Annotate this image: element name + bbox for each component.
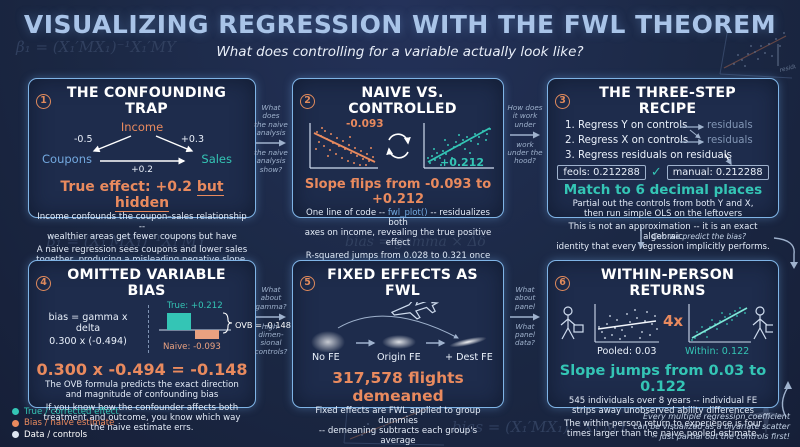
fe-label-origin-fe: Origin FE [377,352,421,363]
within-person-pooled-label: Pooled: 0.03 [597,346,656,357]
wrap-arrow-top-icon [772,236,800,270]
dag-arrows [36,120,250,176]
ovb-illustration: bias = gamma x delta 0.300 x (-0.494) Tr… [36,302,248,356]
arrow-right-icon [256,139,286,147]
infographic-poster: β₁ = (X₁′MX₁)⁻¹X₁′MY β₁ = (X₁′MX₁)⁻¹X₁′M… [0,0,800,447]
residual-sketch-label: residuals [779,61,796,74]
legend-item: True / corrected effect [12,407,119,417]
recipe-step-2-result: residuals [707,135,753,146]
within-person-within-label: Within: 0.122 [685,346,749,357]
legend-label: Data / controls [24,430,87,440]
connector-4-to-5: What about gamma? high- dimen- sional co… [252,286,290,356]
ovb-bar-naive-label: Naive: -0.093 [163,342,221,352]
panel-header: 4 OMITTED VARIABLE BIAS [36,267,248,299]
check-icon: ✓ [651,165,662,180]
connector-3-bottom-d: controls? [252,348,290,356]
legend-dot-true-icon [12,408,19,415]
panel-three-step-recipe: 3 THE THREE-STEP RECIPE 1. Regress Y on … [547,78,779,218]
panel4-headline: 0.300 x -0.494 = -0.148 [36,360,248,379]
page-subtitle: What does controlling for a variable act… [0,44,800,60]
legend-dot-bias-icon [12,420,19,427]
footnote-line1: Every multiple regression coefficient [633,412,790,422]
footnote-line2: can be visualized as a bivariate scatter [633,422,790,432]
chip-feols: feols: 0.212288 [557,165,645,180]
panel-title: FIXED EFFECTS AS FWL [321,267,496,299]
connector-1-bottom-c: show? [252,166,290,174]
connector-2-top-c: under [506,121,544,129]
arrow-right-icon [510,131,540,139]
panel-header: 6 WITHIN-PERSON RETURNS [555,267,771,299]
panel2-body-line2: axes on income, revealing the true posit… [300,229,496,249]
panel-title: THE CONFOUNDING TRAP [57,85,248,117]
arrow-right-icon [256,313,286,321]
panel5-body-line2: -- demeaning subtracts each group's aver… [300,427,496,447]
recipe-steps: 1. Regress Y on controls residuals 2. Re… [555,120,771,166]
panel1-headline: True effect: +0.2 but hidden [36,179,248,211]
within-person-multiplier: 4x [663,312,683,330]
ovb-barchart: True: +0.212 OVB = -0.148 Naive: -0.093 [157,302,248,356]
legend-label: True / corrected effect [24,407,119,417]
panel1-headline-prefix: True effect: +0.2 [60,179,196,195]
panel3-body-line2: then run simple OLS on the leftovers [555,210,771,220]
within-person-plots: 4x Pooled: 0.03 Within: 0.122 [555,302,771,360]
chip-manual: manual: 0.212288 [667,165,769,180]
panel2-body-code: fwl_plot() [388,208,428,218]
panel5-body-line1: Fixed effects are FWL applied to group d… [300,407,496,427]
footnote-line3: -- just partial out the controls first! [633,432,790,442]
confounding-dag: Income Coupons Sales -0.5 +0.3 +0.2 [36,120,248,176]
panel2-left-plot-value: -0.093 [346,118,384,130]
fe-label-dest-fe: + Dest FE [445,352,493,363]
panel-within-person-returns: 6 WITHIN-PERSON RETURNS [547,260,779,408]
ovb-formula-line2: 0.300 x (-0.494) [36,336,140,347]
panel1-body-line2: wealthier areas get fewer coupons but ha… [36,233,248,243]
fe-scatter-clouds [300,302,498,352]
legend-item: Bias / naive estimate [12,418,119,428]
legend-label: Bias / naive estimate [24,418,114,428]
legend: True / corrected effect Bias / naive est… [12,407,119,442]
connector-1-top-a: What does [252,104,290,121]
panel3-body2-line2: identity that every regression implicitl… [555,243,771,253]
page-title: VISUALIZING REGRESSION WITH THE FWL THEO… [0,10,800,39]
connector-2-bottom-c: hood? [506,157,544,165]
panel1-body-line1: Income confounds the coupon–sales relati… [36,213,248,233]
panel-header: 5 FIXED EFFECTS AS FWL [300,267,496,299]
connector-3-top-c: gamma? [252,303,290,311]
panel6-headline: Slope jumps from 0.03 to 0.122 [555,363,771,395]
recipe-step-1: 1. Regress Y on controls [565,120,687,131]
panel-header: 1 THE CONFOUNDING TRAP [36,85,248,117]
panel-number-badge: 5 [300,276,315,291]
fe-scatter-sequence: No FE Origin FE + Dest FE [300,302,496,364]
panel4-body-line2: and magnitude of confounding bias [36,391,248,401]
footnote: Every multiple regression coefficient ca… [633,412,790,442]
arrow-down-icon [634,226,648,250]
connector-1-top-c: analysis [252,129,290,137]
panel2-right-plot-value: +0.212 [440,156,484,169]
fe-label-no-fe: No FE [312,352,340,363]
panel-omitted-variable-bias: 4 OMITTED VARIABLE BIAS bias = gamma x d… [28,260,256,408]
recipe-step-2: 2. Regress X on controls [565,135,688,146]
recipe-step-1-result: residuals [707,120,753,131]
recipe-step-3: 3. Regress residuals on residuals [565,150,732,161]
panel2-body-pre: One line of code -- [306,208,388,218]
panel-header: 3 THE THREE-STEP RECIPE [555,85,771,117]
panel-title: OMITTED VARIABLE BIAS [57,267,248,299]
panel-title: THE THREE-STEP RECIPE [576,85,771,117]
panel2-headline: Slope flips from -0.093 to +0.212 [300,177,496,207]
legend-item: Data / controls [12,430,119,440]
recipe-chips: feols: 0.212288 ✓ manual: 0.212288 [555,165,771,180]
panel-naive-vs-controlled: 2 NAIVE VS. CONTROLLED [292,78,504,218]
connector-4-bottom-c: data? [506,339,544,347]
panel-title: NAIVE VS. CONTROLLED [321,85,496,117]
panel-number-badge: 1 [36,94,51,109]
panel-number-badge: 2 [300,94,315,109]
legend-dot-data-icon [12,431,19,438]
mid-band-note: Can we predict the bias? [652,232,746,241]
panel-fixed-effects-as-fwl: 5 FIXED EFFECTS AS FWL [292,260,504,408]
connector-2-to-3: How does it work under work under the ho… [506,104,544,166]
panel2-body-line1: One line of code -- fwl_plot() -- residu… [300,209,496,229]
panel-number-badge: 4 [36,276,51,291]
arrow-right-icon [510,313,540,321]
ovb-divider [148,305,149,353]
ovb-formula-line1: bias = gamma x delta [36,312,140,334]
panel5-headline: 317,578 flights demeaned [300,369,496,405]
panel-header: 2 NAIVE VS. CONTROLLED [300,85,496,117]
connector-4-top-c: panel [506,303,544,311]
panel-confounding-trap: 1 THE CONFOUNDING TRAP Income Coupons Sa… [28,78,256,218]
ovb-formula: bias = gamma x delta 0.300 x (-0.494) [36,312,140,347]
panel-number-badge: 6 [555,276,570,291]
panel2-plots: -0.093 +0.212 [300,120,496,174]
connector-5-to-6: What about panel What panel data? [506,286,544,348]
panel3-headline: Match to 6 decimal places [555,182,771,198]
connector-1-to-2: What does the naive analysis the naive a… [252,104,290,174]
panel-number-badge: 3 [555,94,570,109]
panel-title: WITHIN-PERSON RETURNS [576,267,771,299]
